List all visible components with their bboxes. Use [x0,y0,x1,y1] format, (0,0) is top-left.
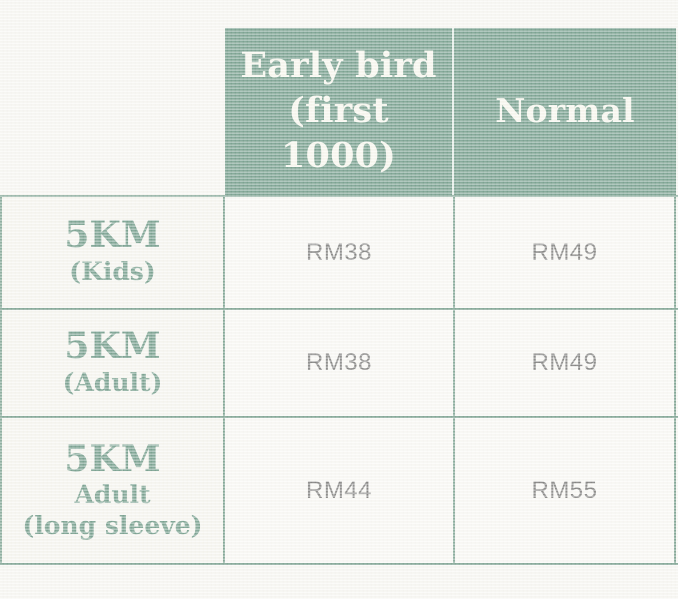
row-label-adult: 5KM (Adult) [0,310,225,416]
price-early-bird-adult-long-sleeve: RM44 [225,418,455,563]
header-early-bird-line2: (first [288,90,388,131]
header-normal-text: Normal [495,90,635,132]
row-label-variant: (long sleeve) [22,511,202,541]
header-corner-blank [0,28,225,195]
row-label-kids: 5KM (Kids) [0,197,225,308]
row-label-distance: 5KM [64,328,160,364]
header-early-bird-text: Early bird (first 1000) [240,44,436,178]
pricing-table: Early bird (first 1000) Normal 5KM (Kids… [0,0,678,599]
price-early-bird-kids: RM38 [225,197,455,308]
price-normal-kids: RM49 [455,197,676,308]
row-label-category: (Kids) [69,257,155,288]
header-early-bird-line1: Early bird [240,45,436,86]
table-body: 5KM (Kids) RM38 RM49 5KM (Adult) RM38 RM… [0,195,678,565]
row-label-distance: 5KM [64,217,160,253]
row-label-distance: 5KM [64,441,160,477]
header-cell-early-bird: Early bird (first 1000) [225,28,454,195]
price-normal-adult: RM49 [455,310,676,416]
header-early-bird-line3: 1000) [281,135,396,176]
price-early-bird-adult: RM38 [225,310,455,416]
row-label-adult-long-sleeve: 5KM Adult (long sleeve) [0,418,225,563]
row-label-category: (Adult) [63,368,163,399]
table-header-row: Early bird (first 1000) Normal [0,28,678,195]
table-row: 5KM (Adult) RM38 RM49 [0,310,678,418]
header-cell-normal: Normal [454,28,676,195]
table-row: 5KM Adult (long sleeve) RM44 RM55 [0,418,678,565]
table-row: 5KM (Kids) RM38 RM49 [0,197,678,310]
price-normal-adult-long-sleeve: RM55 [455,418,676,563]
row-label-category: Adult [74,480,150,511]
